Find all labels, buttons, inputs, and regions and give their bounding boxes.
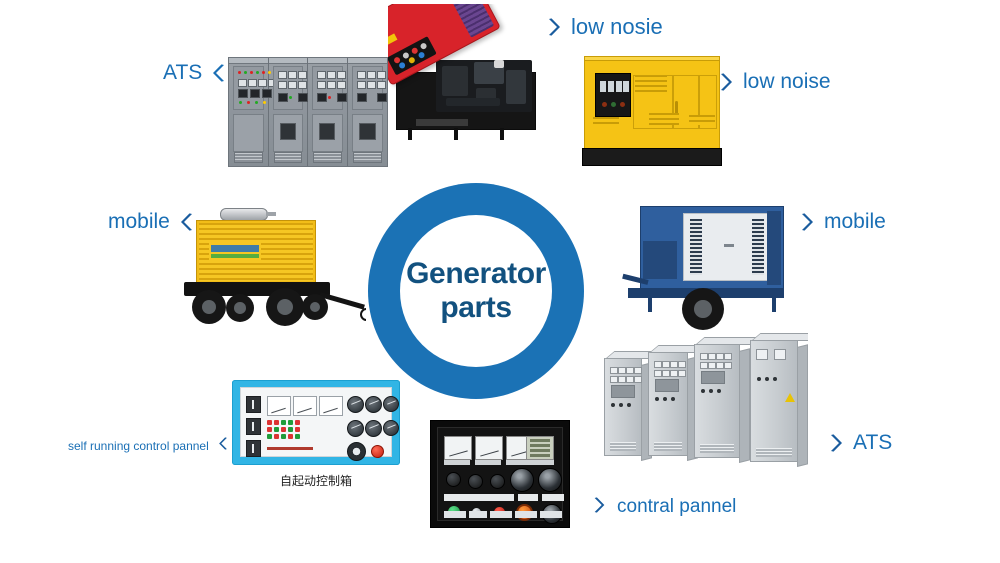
cabinet-door: [352, 114, 384, 152]
product-open-generator: [388, 4, 546, 146]
cabinet-door: [233, 114, 264, 152]
panel-gauge: [365, 420, 382, 437]
cabinet-vent: [274, 152, 303, 163]
chevron-right-icon: [828, 433, 845, 453]
canopy-louver: [649, 113, 679, 125]
chevron-right-icon: [546, 17, 563, 37]
label-text: ATS: [163, 62, 202, 83]
trailer-wheel: [226, 294, 254, 322]
label-text: self running control pannel: [68, 440, 209, 452]
chevron-right-icon: [799, 212, 816, 232]
panel-switch[interactable]: [246, 440, 261, 457]
enclosure-door-panel: [683, 213, 771, 281]
trailer-wheel: [266, 288, 304, 326]
chevron-right-icon: [718, 72, 735, 92]
label-low-noise: low noise: [718, 71, 831, 92]
tow-hitch-icon: [360, 308, 366, 321]
cabinet-body: [228, 57, 388, 167]
product-mobile-trailer-blue: [622, 196, 806, 330]
panel-digital-display: [526, 436, 554, 460]
panel-gauge: [347, 396, 364, 413]
cabinet-face: [233, 66, 264, 110]
panel-face: [437, 427, 563, 521]
product-self-running-control-panel: [232, 380, 400, 465]
ats-cabinet: [750, 340, 798, 462]
support-leg: [648, 296, 652, 312]
cabinet-vent: [234, 152, 263, 163]
label-text: low noise: [743, 71, 831, 92]
panel-fan-dial: [347, 442, 366, 461]
generator-control-panel: [595, 73, 631, 117]
label-low-nosie: low nosie: [546, 16, 663, 38]
trailer-wheel: [302, 294, 328, 320]
panel-dial[interactable]: [538, 468, 562, 492]
panel-meter: [444, 436, 472, 460]
panel-gauge: [383, 420, 399, 436]
cabinet-door: [273, 114, 304, 152]
chevron-left-icon: [210, 63, 227, 83]
generator-enclosure: [640, 206, 784, 290]
cabinet-door: [312, 114, 343, 152]
product-control-panel: [430, 420, 570, 528]
product-ats-cabinet-row: [598, 332, 808, 470]
chevron-left-icon: [217, 436, 234, 456]
panel-knob[interactable]: [490, 474, 505, 489]
exhaust-pipe: [266, 212, 276, 216]
cabinet-vent: [353, 152, 383, 163]
cabinet-face: [312, 66, 343, 110]
panel-frame: [232, 380, 400, 465]
label-mobile-left: mobile: [108, 211, 195, 232]
generator-enclosure: [196, 220, 316, 284]
panel-meter: [475, 436, 503, 460]
label-text: contral pannel: [617, 497, 736, 516]
panel-switch[interactable]: [246, 396, 261, 413]
cabinet-section: [348, 58, 388, 166]
enclosure-louver: [752, 219, 764, 275]
trailer-wheel: [682, 288, 724, 330]
panel-meter: [267, 396, 291, 416]
panel-gauge: [383, 396, 399, 412]
chevron-right-icon: [592, 496, 609, 516]
label-text: mobile: [108, 211, 170, 232]
product-mobile-trailer-yellow: [170, 196, 366, 336]
panel-switch[interactable]: [246, 418, 261, 435]
enclosure-branding: [209, 243, 261, 261]
panel-knob[interactable]: [468, 474, 483, 489]
chevron-left-icon: [178, 212, 195, 232]
door-handle[interactable]: [724, 244, 734, 247]
canopy-louver: [442, 4, 494, 38]
panel-meter: [319, 396, 343, 416]
label-text: mobile: [824, 211, 886, 232]
trailer-wheel: [192, 290, 226, 324]
cabinet-section: [308, 58, 348, 166]
generator-canopy-body: [584, 60, 720, 152]
label-mobile-right: mobile: [799, 211, 886, 232]
product-ats-cabinet-bank: [228, 57, 388, 167]
canopy-sticker: [388, 33, 397, 47]
support-leg: [772, 296, 776, 312]
label-text: low nosie: [571, 16, 663, 38]
canopy-louver: [689, 115, 715, 125]
label-self-running-control-pannel: self running control pannel: [68, 436, 234, 456]
label-ats-bottom: ATS: [828, 432, 892, 453]
panel-gauge: [365, 396, 382, 413]
center-title-line1: Generator: [406, 257, 546, 291]
cabinet-section: [269, 58, 309, 166]
ats-cabinet: [648, 352, 688, 456]
enclosure-rear-panel: [767, 211, 781, 285]
panel-meter: [293, 396, 317, 416]
ats-cabinet: [604, 358, 642, 456]
panel-frame: [430, 420, 570, 528]
enclosure-louver: [690, 219, 702, 275]
cabinet-face: [273, 66, 304, 110]
ats-cabinet: [694, 344, 740, 458]
label-contral-pannel: contral pannel: [592, 496, 736, 516]
generator-skid-base: [582, 148, 722, 166]
center-title-line2: parts: [440, 291, 511, 325]
panel-gauge: [347, 420, 364, 437]
canopy-louver: [593, 117, 619, 127]
emergency-stop-button[interactable]: [371, 445, 384, 458]
poster-canvas: Generator parts: [0, 0, 1000, 563]
generator-engine: [436, 60, 532, 112]
self-running-panel-caption: 自起动控制箱: [232, 472, 400, 489]
label-text: ATS: [853, 432, 892, 453]
panel-face: [240, 387, 392, 457]
cabinet-face: [352, 66, 384, 110]
cabinet-vent: [313, 152, 342, 163]
center-ring-inner: Generator parts: [400, 215, 552, 367]
center-ring: Generator parts: [368, 183, 584, 399]
cabinet-section: [229, 58, 269, 166]
panel-dial[interactable]: [510, 468, 534, 492]
product-silent-generator: [578, 54, 726, 172]
panel-knob[interactable]: [446, 472, 461, 487]
label-ats-top: ATS: [163, 62, 227, 83]
canopy-control-box: [388, 36, 437, 75]
enclosure-front-panel: [643, 241, 677, 279]
generator-nameplate: [416, 119, 468, 126]
